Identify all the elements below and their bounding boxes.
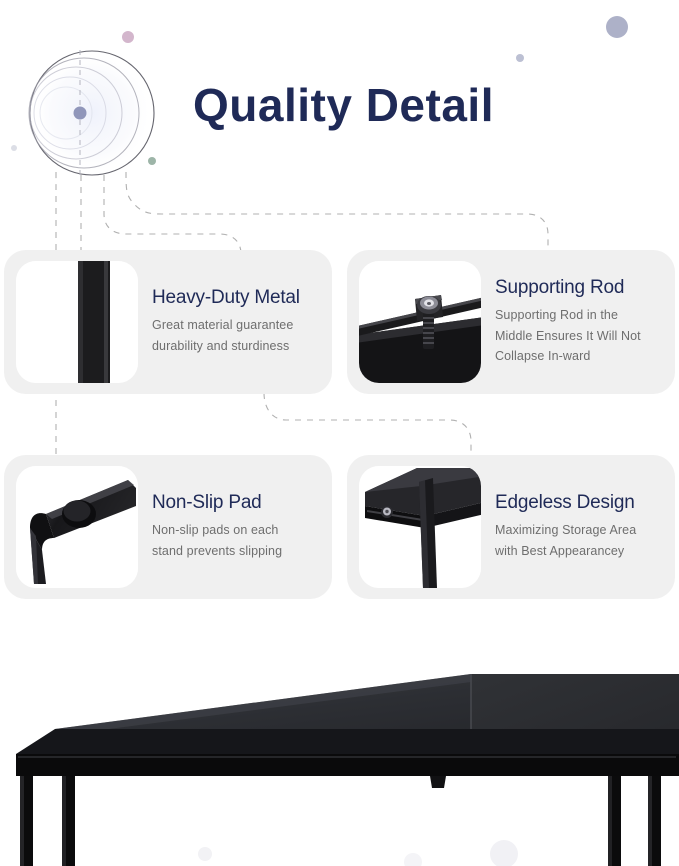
black-desk-photo bbox=[0, 630, 679, 866]
card-non-slip-pad[interactable]: Non-Slip Pad Non-slip pads on each stand… bbox=[4, 455, 332, 599]
card-image-panel-non-slip-pad bbox=[16, 466, 138, 588]
non-slip-pad-photo bbox=[16, 466, 138, 588]
card-title-supporting-rod: Supporting Rod bbox=[495, 277, 665, 299]
card-desc-line: with Best Appearancey bbox=[495, 541, 665, 562]
card-image-panel-supporting-rod bbox=[359, 261, 481, 383]
card-image-panel-heavy-duty-metal bbox=[16, 261, 138, 383]
card-desc-line: Maximizing Storage Area bbox=[495, 520, 665, 541]
card-desc-line: Non-slip pads on each bbox=[152, 520, 322, 541]
edgeless-corner-photo bbox=[359, 466, 481, 588]
card-desc-heavy-duty-metal: Great material guarantee durability and … bbox=[152, 315, 322, 356]
card-supporting-rod[interactable]: Supporting Rod Supporting Rod in the Mid… bbox=[347, 250, 675, 394]
card-title-heavy-duty-metal: Heavy-Duty Metal bbox=[152, 287, 322, 309]
card-desc-line: durability and sturdiness bbox=[152, 336, 322, 357]
card-text-non-slip-pad: Non-Slip Pad Non-slip pads on each stand… bbox=[152, 455, 322, 599]
card-text-heavy-duty-metal: Heavy-Duty Metal Great material guarante… bbox=[152, 250, 322, 394]
card-title-non-slip-pad: Non-Slip Pad bbox=[152, 492, 322, 514]
card-desc-edgeless-design: Maximizing Storage Area with Best Appear… bbox=[495, 520, 665, 561]
card-desc-line: Great material guarantee bbox=[152, 315, 322, 336]
card-desc-line: Supporting Rod in the bbox=[495, 305, 665, 326]
card-desc-supporting-rod: Supporting Rod in the Middle Ensures It … bbox=[495, 305, 665, 367]
card-heavy-duty-metal[interactable]: Heavy-Duty Metal Great material guarante… bbox=[4, 250, 332, 394]
card-desc-line: stand prevents slipping bbox=[152, 541, 322, 562]
card-desc-line: Collapse In-ward bbox=[495, 346, 665, 367]
card-text-edgeless-design: Edgeless Design Maximizing Storage Area … bbox=[495, 455, 665, 599]
infographic-page: Quality Detail Heavy-Duty Metal bbox=[0, 0, 679, 866]
card-edgeless-design[interactable]: Edgeless Design Maximizing Storage Area … bbox=[347, 455, 675, 599]
card-desc-line: Middle Ensures It Will Not bbox=[495, 326, 665, 347]
supporting-rod-photo bbox=[359, 261, 481, 383]
card-text-supporting-rod: Supporting Rod Supporting Rod in the Mid… bbox=[495, 250, 665, 394]
metal-bar-photo bbox=[16, 261, 138, 383]
card-image-panel-edgeless-design bbox=[359, 466, 481, 588]
card-desc-non-slip-pad: Non-slip pads on each stand prevents sli… bbox=[152, 520, 322, 561]
card-title-edgeless-design: Edgeless Design bbox=[495, 492, 665, 514]
